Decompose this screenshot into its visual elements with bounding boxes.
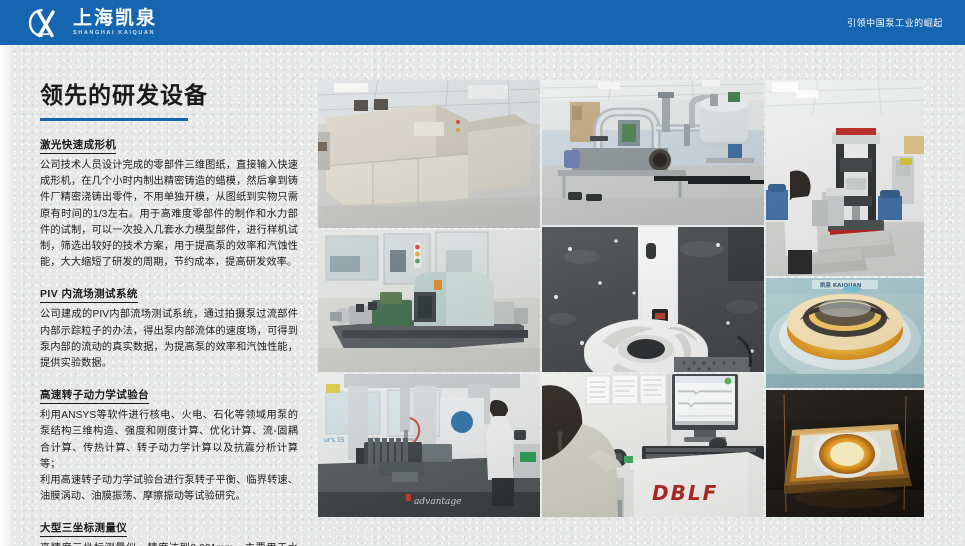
brand-logo[interactable]: 上海凯泉 SHANGHAI KAIQUAN — [26, 7, 157, 39]
section-heading: 大型三坐标测量仪 — [40, 520, 127, 537]
photo-cmm-measuring-rotor[interactable]: ur's 15 1.2" www 29 — [318, 374, 540, 517]
section-body: 公司技术人员设计完成的零部件三维图纸，直接输入快速成形机，在几个小时内制出精密铸… — [40, 158, 298, 271]
svg-text:advantage: advantage — [414, 497, 461, 507]
gallery-column-middle: DBLF — [542, 80, 764, 517]
text-column: 领先的研发设备 激光快速成形机 公司技术人员设计完成的零部件三维图纸，直接输入快… — [40, 81, 298, 546]
section-piv-flow-test: PIV 内流场测试系统 公司建成的PIV内部流场测试系统，通过拍摄泵过流部件内部… — [40, 284, 298, 372]
section-rotor-dynamics-bench: 高速转子动力学试验台 利用ANSYS等软件进行核电、火电、石化等领域用泵的泵结构… — [40, 385, 298, 505]
photo-laser-rapid-prototyping-machine[interactable] — [318, 80, 540, 228]
gallery-column-left: ur's 15 1.2" www 29 — [318, 80, 540, 517]
section-body: 利用ANSYS等软件进行核电、火电、石化等领域用泵的泵结构三维构造、强度和刚度计… — [40, 408, 298, 505]
page-title: 领先的研发设备 — [40, 81, 298, 109]
slide-canvas: 领先的研发设备 激光快速成形机 公司技术人员设计完成的零部件三维图纸，直接输入快… — [0, 45, 965, 546]
brand-name-cn: 上海凯泉 — [73, 9, 157, 29]
gallery-column-right: 凯泉 KAIQUAN — [766, 80, 924, 517]
photo-universal-testing-machine[interactable] — [766, 80, 924, 276]
photo-gallery: ur's 15 1.2" www 29 — [318, 80, 940, 517]
photo-glowing-crucible-furnace[interactable] — [766, 390, 924, 517]
svg-text:DBLF: DBLF — [652, 481, 718, 505]
photo-rotor-dynamics-test-bench[interactable] — [318, 230, 540, 372]
photo-operator-dblf-spectrometer[interactable]: DBLF — [542, 374, 764, 517]
section-body: 高精度三坐标测量仪，精度达到0.001mm，主要用于水力部件的测绘、模具和键零部… — [40, 541, 298, 546]
section-body: 公司建成的PIV内部流场测试系统，通过拍摄泵过流部件内部示踪粒子的办法，得出泵内… — [40, 307, 298, 372]
section-heading: 激光快速成形机 — [40, 137, 116, 154]
section-heading: 高速转子动力学试验台 — [40, 387, 149, 404]
slide-page: 上海凯泉 SHANGHAI KAIQUAN 引领中国泵工业的崛起 领先的研发设备… — [0, 0, 965, 546]
header-tagline: 引领中国泵工业的崛起 — [847, 16, 943, 29]
page-header: 上海凯泉 SHANGHAI KAIQUAN 引领中国泵工业的崛起 — [0, 0, 965, 45]
left-edge-gradient — [0, 45, 14, 546]
photo-piv-flow-test-loop[interactable] — [542, 80, 764, 225]
photo-cmm-probe-impeller[interactable] — [542, 227, 764, 372]
photo-glowing-ring-specimen[interactable]: 凯泉 KAIQUAN — [766, 278, 924, 388]
title-underline — [40, 118, 188, 121]
kaiquan-monogram-icon — [26, 7, 66, 39]
brand-name-en: SHANGHAI KAIQUAN — [73, 29, 157, 37]
section-cmm: 大型三坐标测量仪 高精度三坐标测量仪，精度达到0.001mm，主要用于水力部件的… — [40, 518, 298, 546]
section-heading: PIV 内流场测试系统 — [40, 286, 138, 303]
svg-text:ur's 15: ur's 15 — [324, 437, 345, 444]
section-laser-rapid-prototyping: 激光快速成形机 公司技术人员设计完成的零部件三维图纸，直接输入快速成形机，在几个… — [40, 135, 298, 271]
